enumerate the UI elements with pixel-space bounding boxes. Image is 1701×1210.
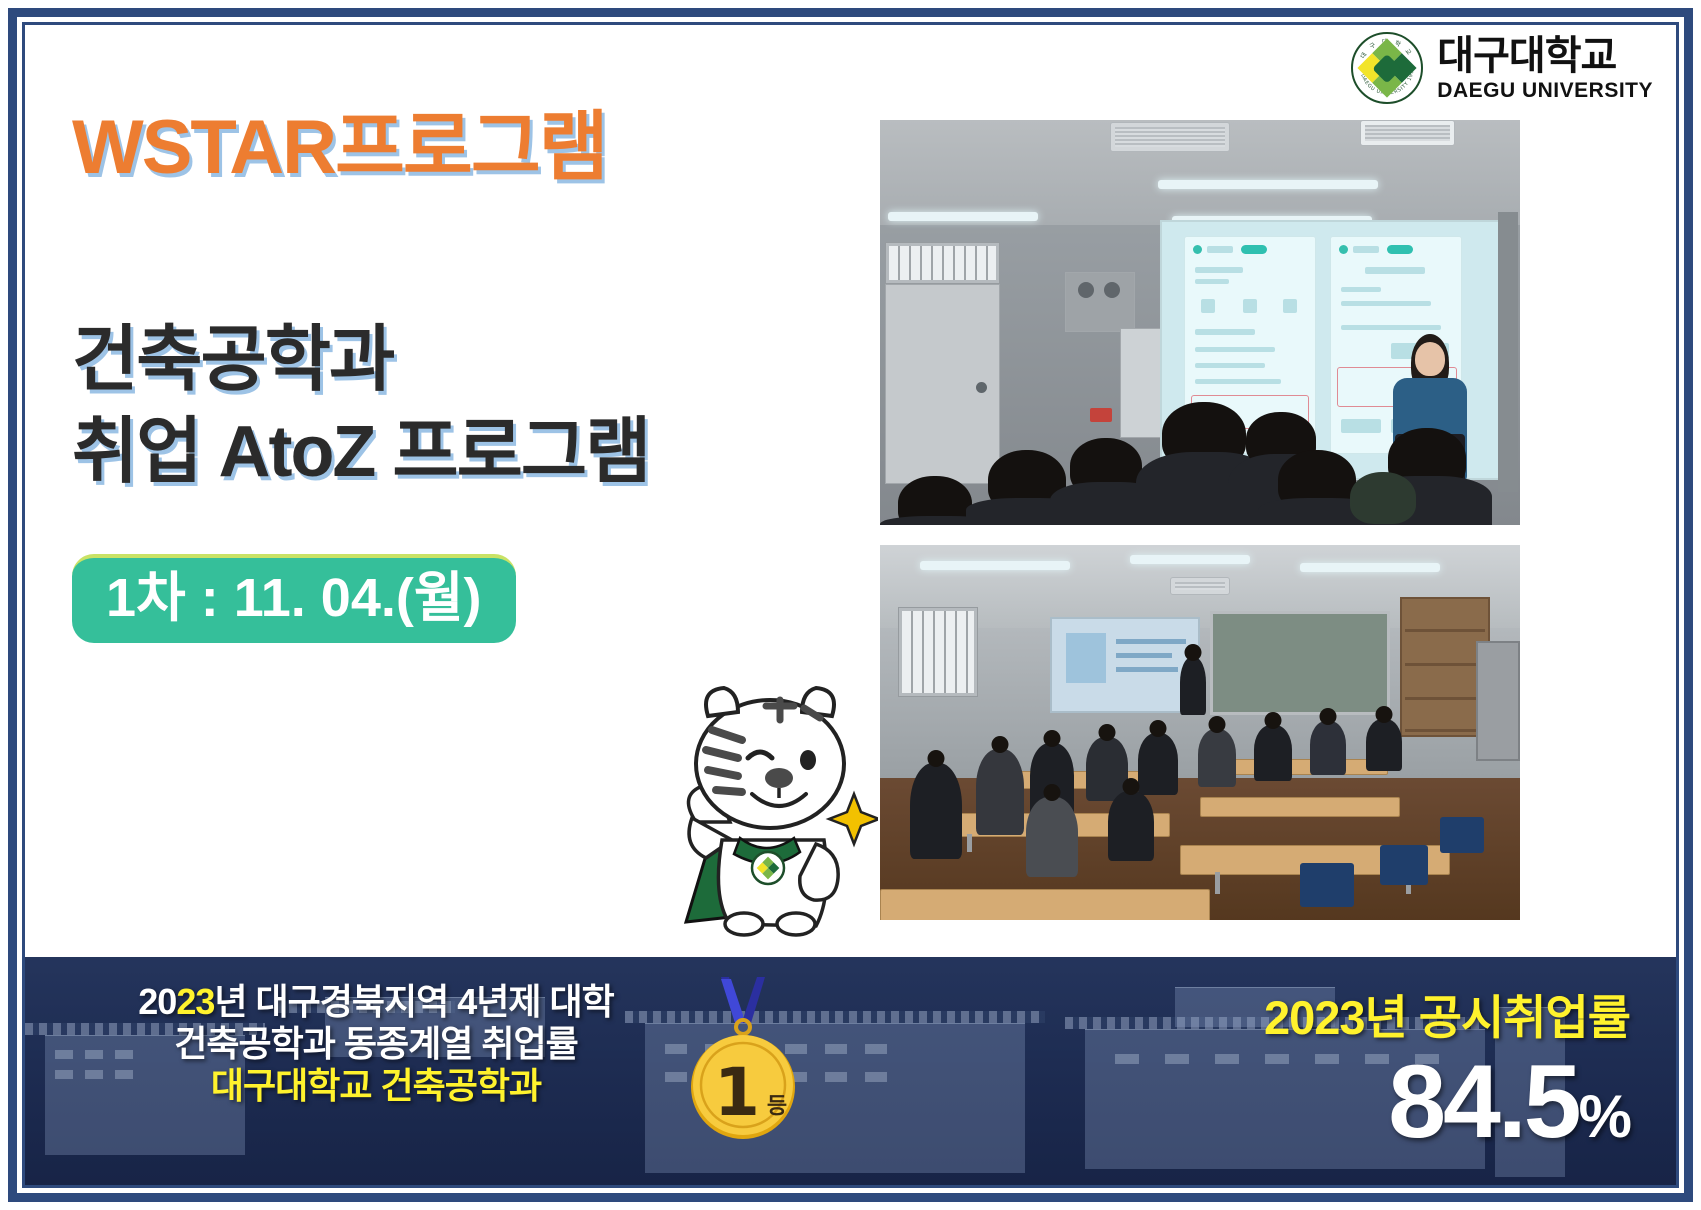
projector-icon [1360, 120, 1455, 146]
ranking-statement: 2023년 대구경북지역 4년제 대학 건축공학과 동종계열 취업률 대구대학교… [81, 981, 671, 1106]
ceiling-light [1300, 563, 1440, 572]
desk [1200, 797, 1400, 817]
daegu-university-emblem-icon: 대 구 대 학 교 DAEGU UNIVERSITY 1956 [1351, 32, 1423, 104]
logo-name-en: DAEGU UNIVERSITY [1437, 80, 1653, 101]
ceiling-light [920, 561, 1070, 570]
ceiling-light [1130, 555, 1250, 564]
ranking-line-3: 대구대학교 건축공학과 [81, 1065, 671, 1107]
wall-box [1065, 272, 1135, 332]
dept-line-1: 건축공학과 [72, 314, 862, 406]
knob-icon [1104, 282, 1120, 298]
desk [1228, 759, 1388, 775]
gold-medal-icon: 1 등 [673, 975, 813, 1145]
student [1138, 733, 1178, 795]
screen-edge [1498, 212, 1518, 492]
logo-name-ko: 대구대학교 [1437, 36, 1653, 76]
knob-icon [1078, 282, 1094, 298]
employment-rate-block: 2023년 공시취업률 84.5% [990, 979, 1630, 1154]
presenter [1180, 657, 1206, 715]
desk [880, 889, 1210, 920]
university-logo: 대 구 대 학 교 DAEGU UNIVERSITY 1956 대구대학교 DA… [1351, 32, 1653, 104]
student [1108, 791, 1154, 861]
classroom-photo [880, 545, 1520, 920]
chair [1300, 863, 1354, 907]
percent-symbol: % [1579, 1083, 1630, 1150]
window-blinds [898, 607, 978, 697]
rate-number: 84.5 [1388, 1044, 1578, 1160]
department-heading: 건축공학과 취업 AtoZ 프로그램 [72, 314, 862, 498]
audience-person [1350, 472, 1416, 524]
white-tiger-mascot-icon [648, 672, 878, 940]
poster-root: 대 구 대 학 교 DAEGU UNIVERSITY 1956 대구대학교 DA… [0, 0, 1701, 1210]
cabinet [1476, 641, 1520, 761]
student [1026, 797, 1078, 877]
whiteboard [1210, 611, 1390, 715]
lecture-photo [880, 120, 1520, 525]
program-title: WSTAR프로그램 [72, 110, 862, 186]
svg-text:1: 1 [714, 1054, 760, 1131]
student [1198, 729, 1236, 787]
year-highlight: 23 [176, 981, 214, 1022]
emergency-sign [1090, 408, 1112, 422]
ranking-line-1-suffix: 년 대구경북지역 4년제 대학 [214, 981, 613, 1022]
student [1366, 719, 1402, 771]
date-badge: 1차 : 11. 04.(월) [72, 554, 516, 643]
student [1310, 721, 1346, 775]
student [910, 763, 962, 859]
employment-rate-label: 2023년 공시취업률 [990, 979, 1630, 1048]
ceiling-light [1158, 180, 1378, 189]
logo-wordmark: 대구대학교 DAEGU UNIVERSITY [1437, 36, 1653, 101]
headline-column: WSTAR프로그램 건축공학과 취업 AtoZ 프로그램 1차 : 11. 04… [72, 110, 862, 643]
chair [1440, 817, 1484, 853]
chair [1380, 845, 1428, 885]
ranking-line-2: 건축공학과 동종계열 취업률 [81, 1023, 671, 1065]
student [976, 749, 1024, 835]
student [1254, 725, 1292, 781]
ceiling-light [888, 212, 1038, 221]
projector-icon [1170, 577, 1230, 595]
ac-unit-icon [1110, 122, 1230, 152]
year-prefix: 20 [138, 981, 176, 1022]
binder-shelf [885, 242, 1000, 284]
stats-banner: 2023년 대구경북지역 4년제 대학 건축공학과 동종계열 취업률 대구대학교… [25, 957, 1676, 1185]
svg-text:등: 등 [767, 1094, 787, 1119]
ranking-line-1: 2023년 대구경북지역 4년제 대학 [81, 981, 671, 1023]
dept-line-2: 취업 AtoZ 프로그램 [72, 406, 862, 498]
projection-screen [1050, 617, 1200, 713]
employment-rate-value: 84.5% [990, 1050, 1630, 1154]
door-knob-icon [976, 382, 987, 393]
